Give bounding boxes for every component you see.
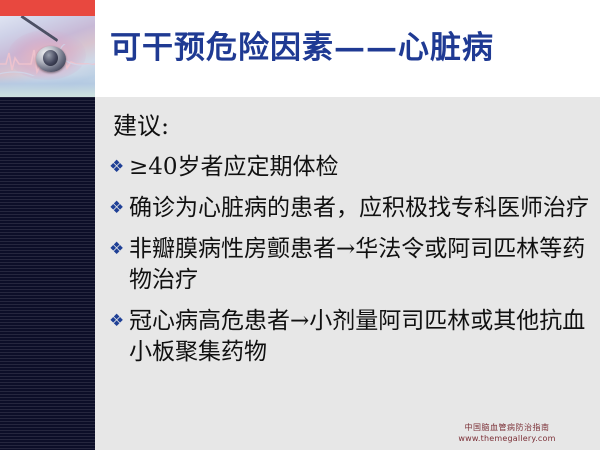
diamond-bullet-icon: ❖ <box>109 306 129 337</box>
list-item: ❖ 非瓣膜病性房颤患者→华法令或阿司匹林等药物治疗 <box>109 234 599 296</box>
footer-source: 中国脑血管病防治指南 <box>422 422 592 433</box>
diamond-bullet-icon: ❖ <box>109 152 129 183</box>
red-accent-bar <box>0 0 95 16</box>
list-item: ❖ 冠心病高危患者→小剂量阿司匹林或其他抗血小板聚集药物 <box>109 306 599 368</box>
list-item-text: 非瓣膜病性房颤患者→华法令或阿司匹林等药物治疗 <box>129 234 599 296</box>
list-item-text: 确诊为心脏病的患者，应积极找专科医师治疗 <box>129 193 599 224</box>
stethoscope-diaphragm-icon <box>43 50 58 66</box>
left-decorative-column <box>0 0 95 450</box>
photo-bottom-fade <box>0 75 95 97</box>
list-item-text: ≥40岁者应定期体检 <box>129 152 599 183</box>
title-area: 可干预危险因素——心脏病 <box>95 0 600 97</box>
slide: 可干预危险因素——心脏病 建议: ❖ ≥40岁者应定期体检 ❖ 确诊为心脏病的患… <box>0 0 600 450</box>
footer-url: www.themegallery.com <box>422 433 592 444</box>
section-heading: 建议: <box>113 111 169 141</box>
footer: 中国脑血管病防治指南 www.themegallery.com <box>422 422 592 444</box>
page-title: 可干预危险因素——心脏病 <box>110 28 494 68</box>
list-item-text: 冠心病高危患者→小剂量阿司匹林或其他抗血小板聚集药物 <box>129 306 599 368</box>
list-item: ❖ ≥40岁者应定期体检 <box>109 152 599 183</box>
navy-side-panel <box>0 97 95 450</box>
diamond-bullet-icon: ❖ <box>109 234 129 265</box>
list-item: ❖ 确诊为心脏病的患者，应积极找专科医师治疗 <box>109 193 599 224</box>
recommendation-list: ❖ ≥40岁者应定期体检 ❖ 确诊为心脏病的患者，应积极找专科医师治疗 ❖ 非瓣… <box>109 152 599 378</box>
content-area: 建议: ❖ ≥40岁者应定期体检 ❖ 确诊为心脏病的患者，应积极找专科医师治疗 … <box>95 97 600 450</box>
diamond-bullet-icon: ❖ <box>109 193 129 224</box>
stethoscope-ecg-photo <box>0 16 95 97</box>
